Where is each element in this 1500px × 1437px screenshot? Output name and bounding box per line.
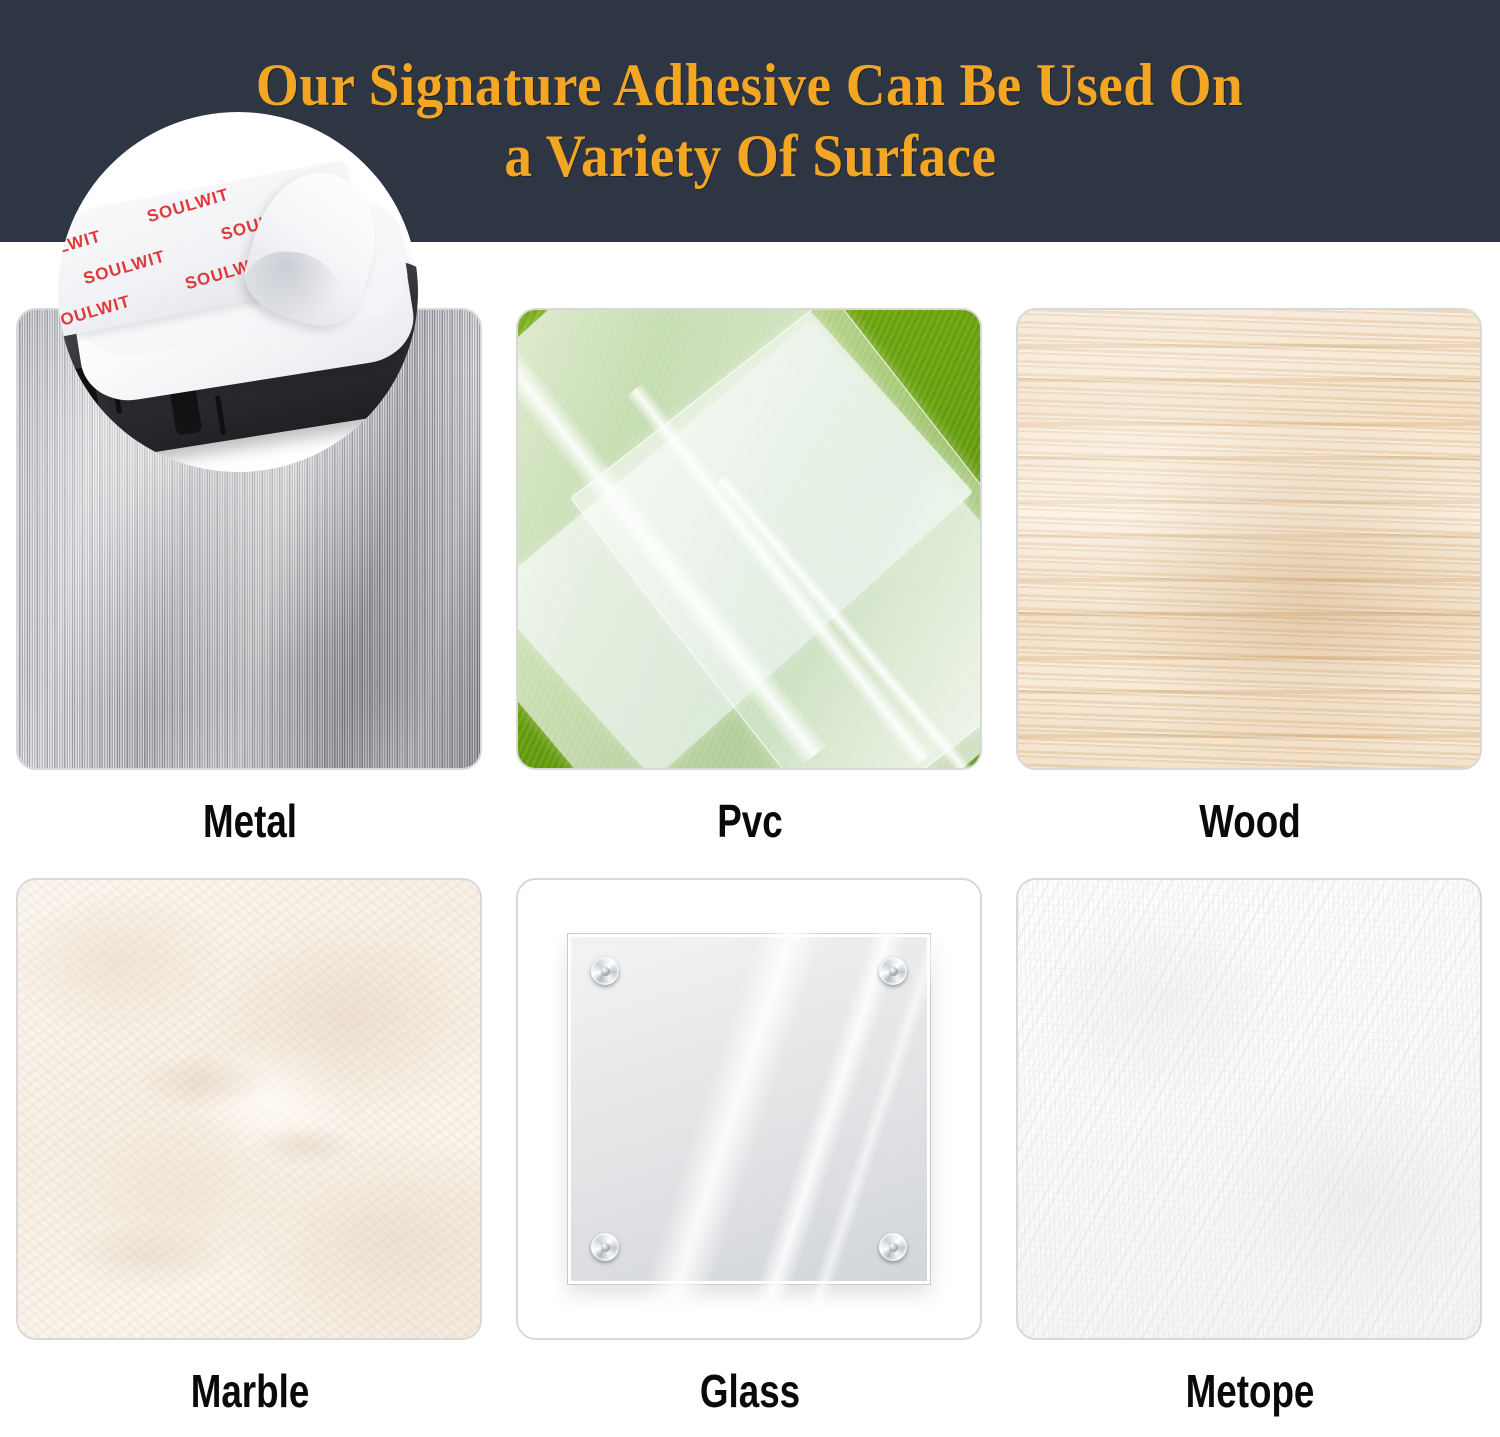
wood-grain-swatch-icon [1018,310,1480,768]
plaster-wall-swatch-icon [1018,880,1480,1338]
surface-label-metal: Metal [50,794,450,848]
page-title-line-2: a Variety Of Surface [504,122,996,191]
page-title-line-1: Our Signature Adhesive Can Be Used On [256,51,1243,120]
soulwit-brand-print: SOULWIT [58,227,104,270]
surface-label-glass: Glass [550,1364,950,1418]
glass-standoff-screw-top-right [879,957,907,985]
surface-label-pvc: Pvc [550,794,950,848]
glass-reflection [608,900,830,1340]
glass-panel [568,934,930,1284]
surface-label-wood: Wood [1050,794,1450,848]
clear-pvc-sheet-swatch-icon [518,310,980,768]
adhesive-closeup-circle: SOULWIT SOULWIT SOULWIT SOULWIT SOULWIT … [58,112,418,472]
surface-swatch-glass [516,878,982,1340]
glass-panel-swatch-icon [518,880,980,1338]
surface-label-marble: Marble [50,1364,450,1418]
surface-swatch-metope [1016,878,1482,1340]
glass-standoff-screw-bottom-left [591,1233,619,1261]
surface-swatch-wood [1016,308,1482,770]
surface-swatch-pvc [516,308,982,770]
glass-standoff-screw-top-left [591,957,619,985]
adhesive-closeup-scene: SOULWIT SOULWIT SOULWIT SOULWIT SOULWIT … [58,112,418,472]
surface-label-metope: Metope [1050,1364,1450,1418]
soulwit-brand-print: SOULWIT [145,185,232,228]
glass-standoff-screw-bottom-right [879,1233,907,1261]
marble-stone-swatch-icon [18,880,480,1338]
surface-swatch-marble [16,878,482,1340]
soulwit-brand-print: SOULWIT [81,247,168,290]
